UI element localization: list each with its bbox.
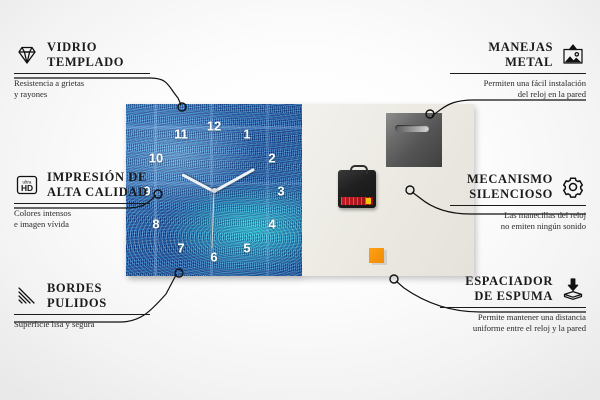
feature-mecanismo-silencioso[interactable]: MECANISMO SILENCIOSO Las manecillas del … (450, 172, 586, 233)
feature-divider (440, 307, 586, 308)
metal-hanger-plate (386, 113, 442, 167)
polished-edges-icon (14, 283, 40, 309)
feature-desc-line1: Resistencia a grietas (14, 78, 84, 88)
feature-manejas-metal[interactable]: MANEJAS METAL Permiten una fácil instala… (450, 40, 586, 101)
connector-dot-espaciador (390, 275, 398, 283)
feature-divider (450, 205, 586, 206)
picture-hanger-icon (560, 42, 586, 68)
feature-title-line2: TEMPLADO (47, 55, 124, 69)
clock-numeral-7: 7 (177, 242, 184, 255)
feature-title: MECANISMO SILENCIOSO (467, 172, 553, 202)
feature-header: BORDES PULIDOS (14, 281, 150, 311)
feature-title-line1: MANEJAS (488, 40, 553, 54)
ultra-hd-icon: ultra HD (14, 172, 40, 198)
clock-numeral-10: 10 (149, 152, 163, 165)
clock-mechanism-box (338, 170, 376, 208)
clock-numeral-8: 8 (152, 218, 159, 231)
feature-title-line1: ESPACIADOR (465, 274, 553, 288)
clock-numeral-4: 4 (268, 218, 275, 231)
clock-numeral-11: 11 (174, 128, 188, 141)
feature-desc-line1: Colores intensos (14, 208, 71, 218)
feature-divider (14, 314, 150, 315)
feature-header: MANEJAS METAL (450, 40, 586, 70)
feature-impresion-alta-calidad[interactable]: ultra HD IMPRESIÓN DE ALTA CALIDAD Color… (14, 170, 150, 231)
foam-spacer-icon (560, 276, 586, 302)
feature-title: IMPRESIÓN DE ALTA CALIDAD (47, 170, 148, 200)
feature-title-line1: IMPRESIÓN DE (47, 170, 147, 184)
feature-description: Resistencia a grietas y rayones (14, 78, 150, 101)
mechanism-hanging-loop (350, 165, 368, 174)
feature-header: ultra HD IMPRESIÓN DE ALTA CALIDAD (14, 170, 150, 200)
feature-divider (14, 203, 150, 204)
foam-spacer-square (369, 248, 384, 263)
feature-desc-line2: y rayones (14, 89, 47, 99)
feature-title: BORDES PULIDOS (47, 281, 107, 311)
feature-desc-line1: Superficie lisa y segura (14, 319, 94, 329)
diamond-icon (14, 42, 40, 68)
feature-espaciador-espuma[interactable]: ESPACIADOR DE ESPUMA Permite mantener un… (440, 274, 586, 335)
feature-title-line2: SILENCIOSO (469, 187, 553, 201)
clock-front-panel: 12 1 2 3 4 5 6 7 8 9 10 11 (126, 104, 302, 276)
feature-bordes-pulidos[interactable]: BORDES PULIDOS Superficie lisa y segura (14, 281, 150, 330)
clock-back-panel (302, 104, 474, 276)
gear-icon (560, 174, 586, 200)
feature-header: MECANISMO SILENCIOSO (450, 172, 586, 202)
feature-title-line1: BORDES (47, 281, 102, 295)
feature-title-line1: MECANISMO (467, 172, 553, 186)
feature-divider (14, 73, 150, 74)
feature-desc-line2: uniforme entre el reloj y la pared (473, 323, 586, 333)
feature-divider (450, 73, 586, 74)
clock-numeral-12: 12 (207, 120, 221, 133)
feature-desc-line2: del reloj en la pared (518, 89, 586, 99)
clock-numeral-6: 6 (210, 251, 217, 264)
clock-numeral-1: 1 (243, 128, 250, 141)
clock-center-cap (212, 188, 217, 193)
hanger-slot (395, 125, 429, 132)
feature-desc-line1: Permite mantener una distancia (478, 312, 586, 322)
feature-title-line2: ALTA CALIDAD (47, 185, 148, 199)
feature-title: ESPACIADOR DE ESPUMA (465, 274, 553, 304)
feature-desc-line1: Las manecillas del reloj (504, 210, 586, 220)
clock-numeral-3: 3 (277, 185, 284, 198)
feature-vidrio-templado[interactable]: VIDRIO TEMPLADO Resistencia a grietas y … (14, 40, 150, 101)
feature-title-line2: PULIDOS (47, 296, 107, 310)
product-photo-group: 12 1 2 3 4 5 6 7 8 9 10 11 (126, 104, 474, 276)
infographic-canvas: 12 1 2 3 4 5 6 7 8 9 10 11 (0, 0, 600, 400)
feature-desc-line1: Permiten una fácil instalación (484, 78, 586, 88)
feature-title: MANEJAS METAL (488, 40, 553, 70)
feature-description: Permiten una fácil instalación del reloj… (450, 78, 586, 101)
mechanism-label-tag (366, 198, 371, 204)
feature-description: Superficie lisa y segura (14, 319, 150, 331)
feature-title: VIDRIO TEMPLADO (47, 40, 124, 70)
clock-numeral-5: 5 (243, 242, 250, 255)
clock-numeral-2: 2 (268, 152, 275, 165)
feature-header: ESPACIADOR DE ESPUMA (440, 274, 586, 304)
feature-title-line2: DE ESPUMA (474, 289, 553, 303)
svg-text:HD: HD (21, 183, 33, 193)
feature-desc-line2: no emiten ningún sonido (501, 221, 586, 231)
feature-description: Permite mantener una distancia uniforme … (440, 312, 586, 335)
feature-header: VIDRIO TEMPLADO (14, 40, 150, 70)
feature-title-line1: VIDRIO (47, 40, 97, 54)
feature-description: Las manecillas del reloj no emiten ningú… (450, 210, 586, 233)
feature-desc-line2: e imagen vívida (14, 219, 69, 229)
feature-title-line2: METAL (505, 55, 553, 69)
feature-description: Colores intensos e imagen vívida (14, 208, 150, 231)
mechanism-red-label (341, 197, 373, 205)
